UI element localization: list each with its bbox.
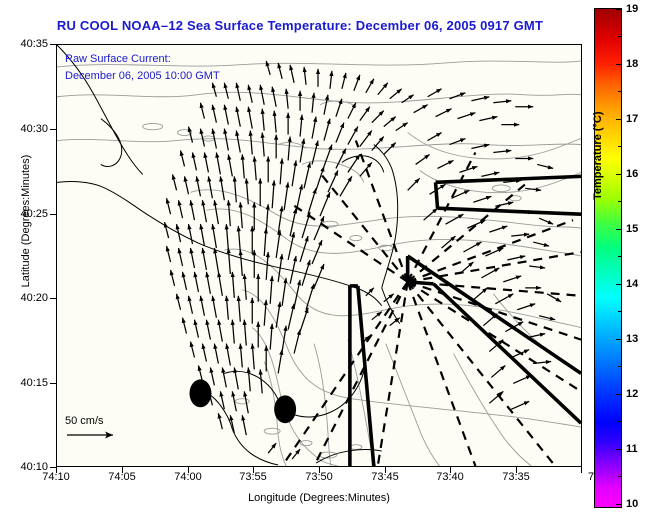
y-tick-0 (50, 44, 56, 45)
cb-minor-g (618, 366, 622, 367)
vector-scale-label: 50 cm/s (65, 415, 155, 427)
cb-tick-17 (616, 119, 622, 120)
cb-minor-i (618, 476, 622, 477)
cb-minor-f (618, 311, 622, 312)
y-axis-title: Latitude (Degrees:Minutes) (20, 121, 32, 321)
y-tick-label-4: 40:15 (10, 377, 48, 389)
colorbar-title: Temperature (°C) (592, 40, 604, 200)
radar-station-east (274, 395, 296, 423)
cb-label-12: 12 (626, 388, 638, 400)
cb-minor-b (618, 91, 622, 92)
x-tick-label-7: 73:35 (502, 471, 530, 483)
x-tick-label-2: 74:00 (174, 471, 202, 483)
map-graphics (57, 45, 581, 466)
cb-tick-15 (616, 229, 622, 230)
y-tick-5 (50, 467, 56, 468)
cb-label-16: 16 (626, 168, 638, 180)
x-tick-label-4: 73:50 (305, 471, 333, 483)
cb-label-11: 11 (626, 443, 638, 455)
cb-tick-18 (616, 64, 622, 65)
cb-label-14: 14 (626, 278, 638, 290)
right-arrow-icon (65, 429, 125, 441)
cb-label-17: 17 (626, 113, 638, 125)
page-title: RU COOL NOAA–12 Sea Surface Temperature:… (0, 18, 600, 33)
cb-tick-13 (616, 339, 622, 340)
x-tick-8 (581, 467, 582, 473)
sst-map-figure: RU COOL NOAA–12 Sea Surface Temperature:… (0, 0, 651, 519)
cb-label-15: 15 (626, 223, 638, 235)
map-plot-area[interactable]: Raw Surface Current: December 06, 2005 1… (56, 44, 582, 467)
cb-tick-10 (616, 504, 622, 505)
sst-contours (57, 61, 581, 466)
y-tick-4 (50, 383, 56, 384)
cb-tick-19 (616, 9, 622, 10)
x-tick-label-1: 74:05 (108, 471, 136, 483)
cb-minor-c (618, 146, 622, 147)
vector-scale-legend: 50 cm/s (65, 415, 155, 446)
cb-minor-h (618, 421, 622, 422)
y-tick-3 (50, 298, 56, 299)
cb-label-10: 10 (626, 498, 638, 510)
y-tick-label-0: 40:35 (10, 38, 48, 50)
x-tick-label-3: 73:55 (239, 471, 267, 483)
cb-label-18: 18 (626, 58, 638, 70)
cb-tick-11 (616, 449, 622, 450)
cb-tick-12 (616, 394, 622, 395)
cb-minor-e (618, 256, 622, 257)
x-tick-label-6: 73:40 (436, 471, 464, 483)
radar-station-west (189, 379, 211, 407)
cb-label-13: 13 (626, 333, 638, 345)
y-tick-1 (50, 129, 56, 130)
cb-tick-14 (616, 284, 622, 285)
y-tick-label-5: 40:10 (10, 461, 48, 473)
x-tick-label-5: 73:45 (371, 471, 399, 483)
cb-minor-d (618, 201, 622, 202)
y-tick-2 (50, 214, 56, 215)
x-axis-title: Longitude (Degrees:Minutes) (56, 492, 582, 504)
cb-minor-a (618, 36, 622, 37)
cb-tick-16 (616, 174, 622, 175)
cb-label-19: 19 (626, 3, 638, 15)
